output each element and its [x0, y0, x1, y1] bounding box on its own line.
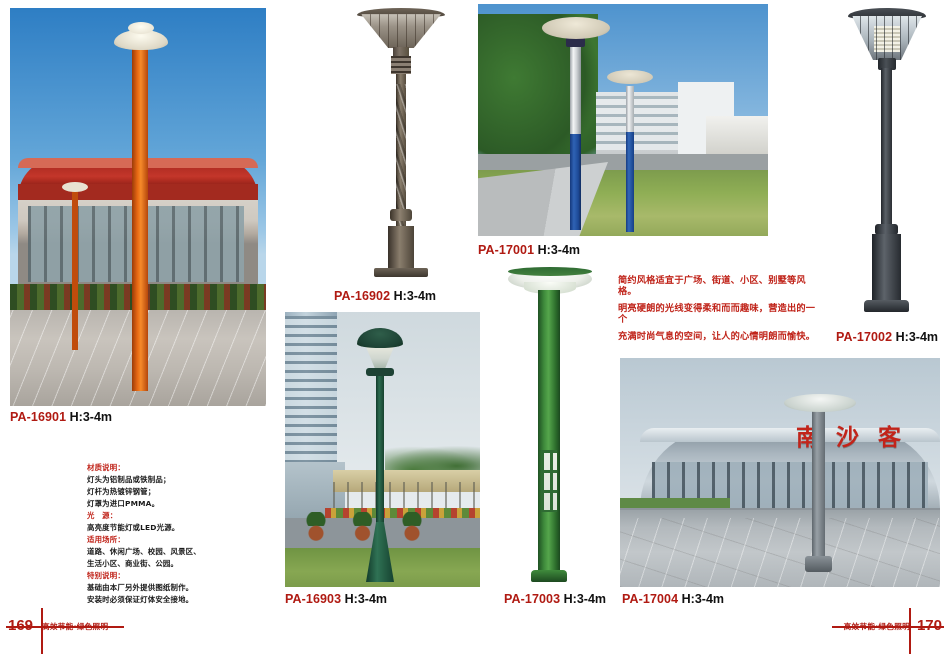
spec-line-material-3: 灯罩为进口PMMA。: [87, 498, 237, 509]
lamp-panel-grid: [541, 450, 557, 512]
product-photo-pa-17001: [478, 4, 768, 236]
product-code-pa-17002: PA-17002: [836, 330, 892, 344]
product-figure-pa-16902: [333, 4, 469, 282]
caption-pa-16902: PA-16902 H:3-4m: [334, 289, 436, 303]
footer-slogan-left: 高效节能·绿色照明: [42, 621, 108, 632]
page-number-left: 169: [8, 617, 33, 634]
spec-heading-light-source: 光 源：: [87, 510, 237, 521]
caption-pa-17003: PA-17003 H:3-4m: [504, 592, 606, 606]
lamp-base: [872, 234, 901, 304]
planter-pots: [295, 520, 445, 542]
spec-heading-material: 材质说明：: [87, 462, 237, 473]
caption-pa-17001: PA-17001 H:3-4m: [478, 243, 580, 257]
product-height-pa-16902: H:3-4m: [394, 289, 436, 303]
spec-line-notes-2: 安装时必须保证灯体安全接地。: [87, 594, 237, 605]
product-height-pa-17001: H:3-4m: [538, 243, 580, 257]
secondary-lamp-head: [62, 182, 88, 192]
product-height-pa-17003: H:3-4m: [564, 592, 606, 606]
near-lamp-pole-blue: [570, 134, 581, 230]
product-height-pa-16901: H:3-4m: [70, 410, 112, 424]
lamp-pole: [881, 68, 892, 230]
product-code-pa-17003: PA-17003: [504, 592, 560, 606]
lamp-pole-green: [376, 374, 384, 534]
lamp-foot-plate: [864, 300, 909, 312]
product-photo-pa-17004: 南 沙 客: [620, 358, 940, 587]
lamp-pole-orange: [132, 46, 148, 391]
signage-char-3: 客: [878, 418, 901, 452]
lamp-base: [805, 556, 832, 572]
lamp-pole-knuckle: [390, 209, 412, 221]
footer-slogan-right: 高效节能·绿色照明: [844, 621, 910, 632]
description-line-1: 简约风格适宜于广场、街道、小区、别墅等风格。: [618, 276, 818, 297]
catalog-page: PA-16901 H:3-4m PA-16902 H:3-4m: [0, 0, 950, 654]
spec-line-notes-1: 基础由本厂另外提供图纸制作。: [87, 582, 237, 593]
caption-pa-16903: PA-16903 H:3-4m: [285, 592, 387, 606]
caption-pa-17004: PA-17004 H:3-4m: [622, 592, 724, 606]
lamp-pole-grey: [812, 408, 825, 566]
spec-heading-notes: 特别说明：: [87, 570, 237, 581]
lamp-collar-rings: [391, 56, 411, 74]
lamp-head-top: [128, 22, 154, 34]
office-tower-windows: [285, 316, 337, 474]
near-lamp-disc: [542, 17, 610, 39]
spec-heading-applications: 适用场所：: [87, 534, 237, 545]
product-height-pa-16903: H:3-4m: [345, 592, 387, 606]
page-number-right: 170: [917, 617, 942, 634]
product-code-pa-16903: PA-16903: [285, 592, 341, 606]
office-building-c: [706, 116, 768, 154]
product-code-pa-16902: PA-16902: [334, 289, 390, 303]
lamp-shade-ribs: [361, 12, 441, 48]
lamp-column-green: [538, 290, 560, 578]
spec-line-applications-1: 道路、休闲广场、校园、风景区、: [87, 546, 237, 557]
spec-line-material-2: 灯杆为热镀锌钢管；: [87, 486, 237, 497]
spec-line-material-1: 灯头为铝制品或铁制品；: [87, 474, 237, 485]
product-figure-pa-17003: [500, 262, 600, 587]
plaza-paving: [620, 518, 940, 587]
far-lamp-pole-blue: [626, 132, 634, 232]
lamp-base: [388, 226, 414, 270]
secondary-lamp-pole: [72, 190, 78, 350]
product-height-pa-17002: H:3-4m: [896, 330, 938, 344]
signage-char-2: 沙: [836, 418, 859, 452]
caption-pa-17002: PA-17002 H:3-4m: [836, 330, 938, 344]
product-code-pa-17004: PA-17004: [622, 592, 678, 606]
specification-block: 材质说明： 灯头为铝制品或铁制品； 灯杆为热镀锌钢管； 灯罩为进口PMMA。 光…: [87, 462, 237, 606]
lamp-foot-plate: [374, 268, 428, 277]
lamp-bottom-ring: [366, 368, 394, 376]
lamp-dish-head: [784, 394, 856, 412]
product-photo-pa-16901: [10, 8, 266, 406]
lamp-foot-plate: [531, 570, 567, 582]
description-line-3: 充满时尚气息的空间，让人的心情明朗而愉快。: [618, 332, 818, 343]
description-line-2: 明亮硬朗的光线变得柔和而而趣味，营造出的一个: [618, 304, 818, 325]
spec-line-applications-2: 生活小区、商业街、公园。: [87, 558, 237, 569]
lamp-shade-ribs: [852, 16, 922, 60]
product-photo-pa-16903: [285, 312, 480, 587]
far-lamp-disc: [607, 70, 653, 84]
product-code-pa-16901: PA-16901: [10, 410, 66, 424]
product-code-pa-17001: PA-17001: [478, 243, 534, 257]
product-height-pa-17004: H:3-4m: [682, 592, 724, 606]
lamp-dish-rim: [508, 267, 592, 276]
product-figure-pa-17002: [836, 2, 946, 320]
caption-pa-16901: PA-16901 H:3-4m: [10, 410, 112, 424]
spec-line-light-source-1: 高亮度节能灯或LED光源。: [87, 522, 237, 533]
style-description-block: 简约风格适宜于广场、街道、小区、别墅等风格。 明亮硬朗的光线变得柔和而而趣味，营…: [618, 276, 818, 350]
